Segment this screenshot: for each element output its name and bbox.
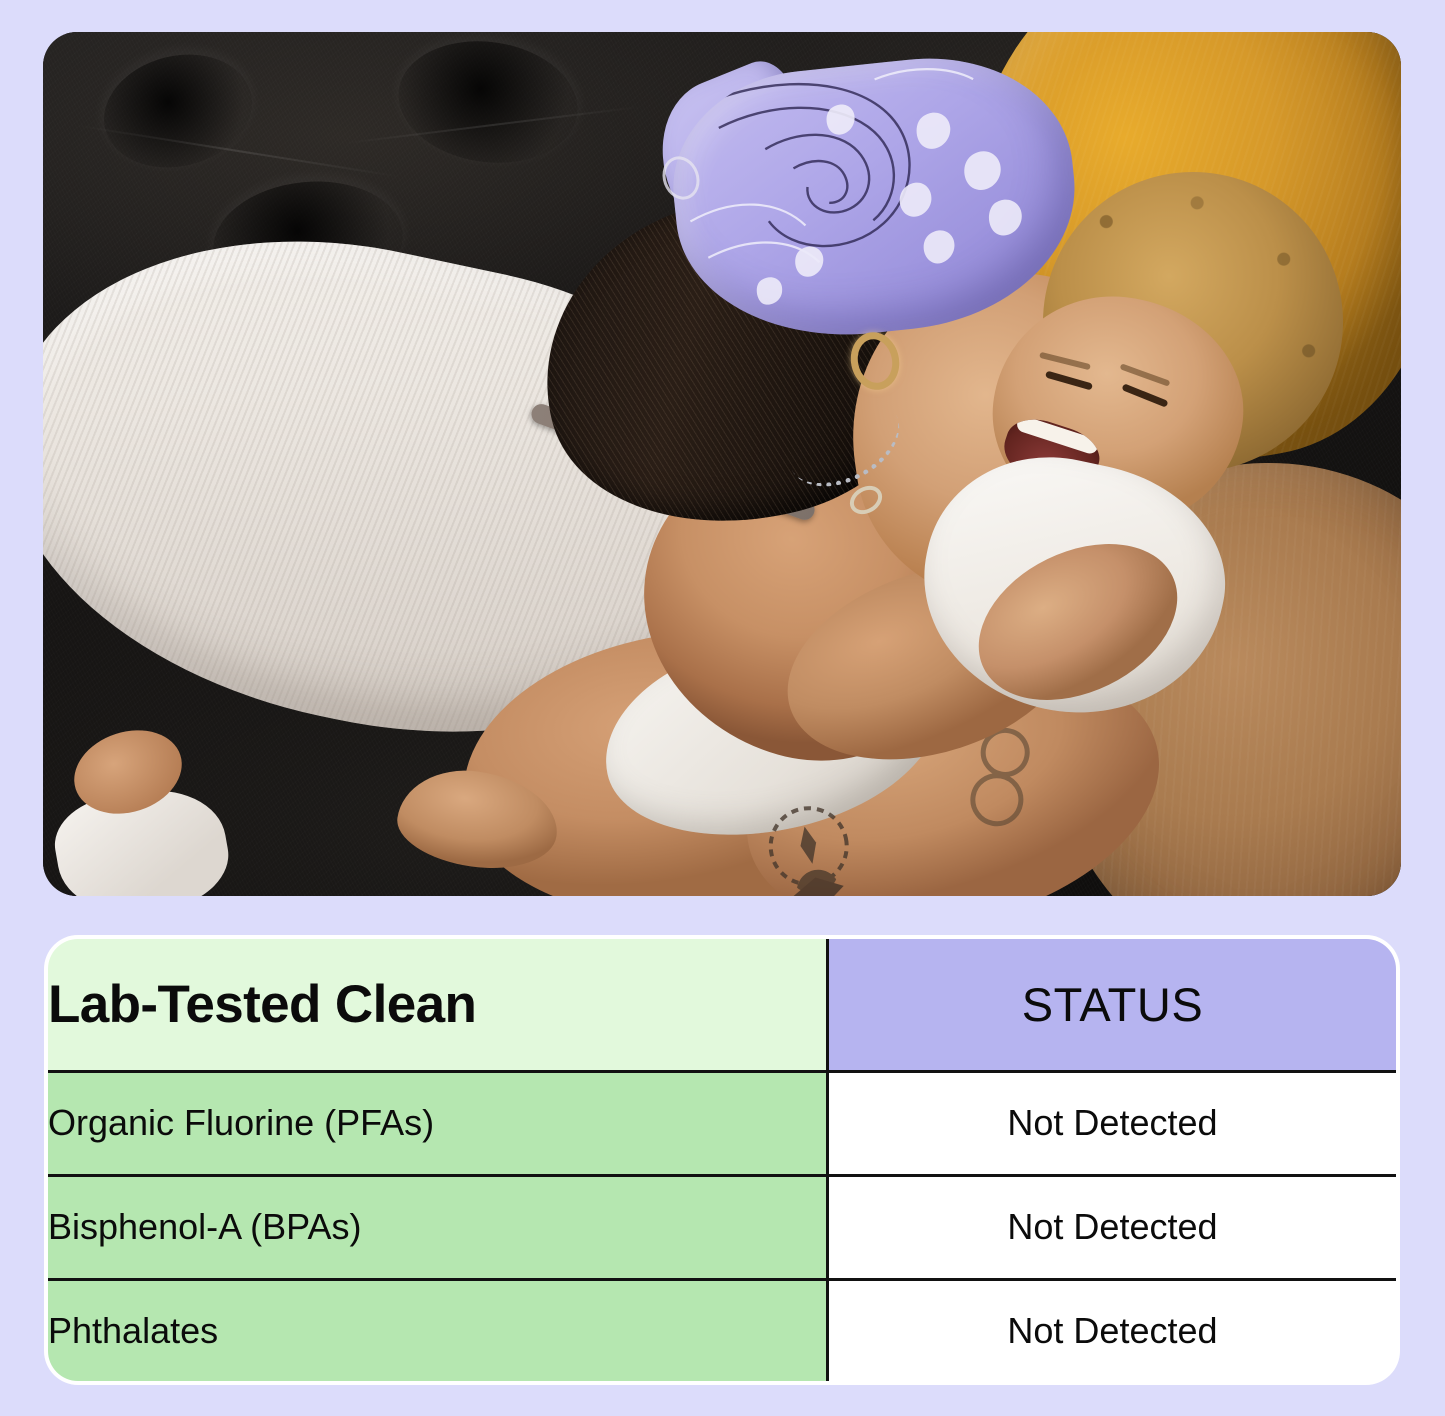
status-cell: Not Detected (827, 1279, 1398, 1383)
substance-name-cell: Phthalates (46, 1279, 827, 1383)
infographic-page: Lab-Tested Clean STATUS Organic Fluorine… (0, 0, 1445, 1416)
status-cell: Not Detected (827, 1071, 1398, 1175)
paisley-pattern-icon (662, 44, 1088, 352)
table-row: Phthalates Not Detected (46, 1279, 1398, 1383)
substance-name-cell: Organic Fluorine (PFAs) (46, 1071, 827, 1175)
photo-scene (43, 32, 1401, 896)
substance-name-cell: Bisphenol-A (BPAs) (46, 1175, 827, 1279)
lifestyle-photo (43, 32, 1401, 896)
lab-results-table: Lab-Tested Clean STATUS Organic Fluorine… (44, 935, 1400, 1385)
status-cell: Not Detected (827, 1175, 1398, 1279)
table-row: Bisphenol-A (BPAs) Not Detected (46, 1175, 1398, 1279)
table-header-name: Lab-Tested Clean (46, 937, 827, 1071)
table-header-status: STATUS (827, 937, 1398, 1071)
lab-results-table-wrapper: Lab-Tested Clean STATUS Organic Fluorine… (44, 935, 1400, 1383)
table-header-row: Lab-Tested Clean STATUS (46, 937, 1398, 1071)
table-row: Organic Fluorine (PFAs) Not Detected (46, 1071, 1398, 1175)
lavender-paisley-bandana (662, 44, 1088, 352)
